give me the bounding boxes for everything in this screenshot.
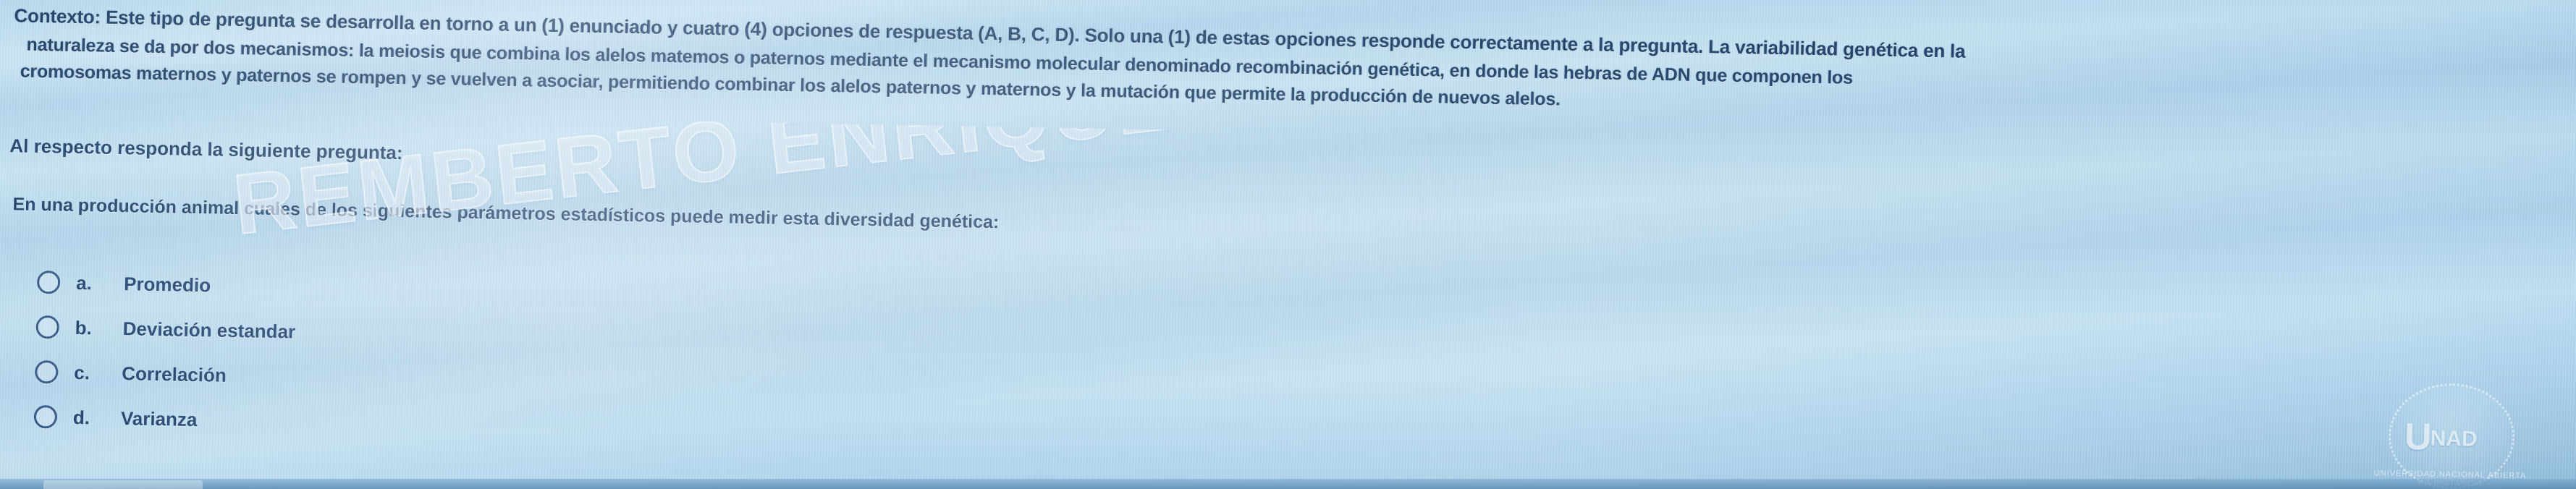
logo-wordmark: UNAD [2404,416,2499,461]
radio-button-icon[interactable] [34,405,58,429]
exam-screen-photo: Contexto: Este tipo de pregunta se desar… [0,0,2576,489]
option-letter: c. [74,361,122,384]
radio-button-icon[interactable] [35,360,59,384]
logo-ring-icon [2388,383,2516,489]
question-text: En una producción animal cuales de los s… [12,194,999,233]
answer-option-b[interactable]: b. Deviación estandar [35,305,296,354]
instruction-text: Al respecto responda la siguiente pregun… [9,135,403,164]
option-letter: a. [76,271,124,294]
watermark-text: REMBERTO ENRIQUE BARBA SMAL [232,113,1803,255]
logo-mark-letter: U [2404,416,2431,459]
unad-logo: UNAD UNIVERSIDAD NACIONAL ABIERTA Y A DI… [2365,382,2535,489]
option-letter: d. [73,406,122,429]
answer-option-d[interactable]: d. Varianza [33,394,294,444]
option-label: Correlación [122,362,227,387]
student-name-watermark: REMBERTO ENRIQUE BARBA SMAL [232,113,2118,350]
answer-option-a[interactable]: a. Promedio [36,260,297,310]
taskbar-tab[interactable] [43,480,203,489]
radio-button-icon[interactable] [37,271,61,294]
option-label: Varianza [121,407,198,431]
answer-option-c[interactable]: c. Correlación [35,349,295,399]
answer-options-list: a. Promedio b. Deviación estandar c. Cor… [33,260,297,444]
screen-bottom-edge [0,479,2576,489]
exam-content-plane: Contexto: Este tipo de pregunta se desar… [0,0,2575,489]
option-label: Promedio [124,273,211,297]
option-label: Deviación estandar [122,318,295,343]
option-letter: b. [75,316,123,339]
logo-mark-suffix: NAD [2430,427,2478,451]
radio-button-icon[interactable] [35,315,59,339]
